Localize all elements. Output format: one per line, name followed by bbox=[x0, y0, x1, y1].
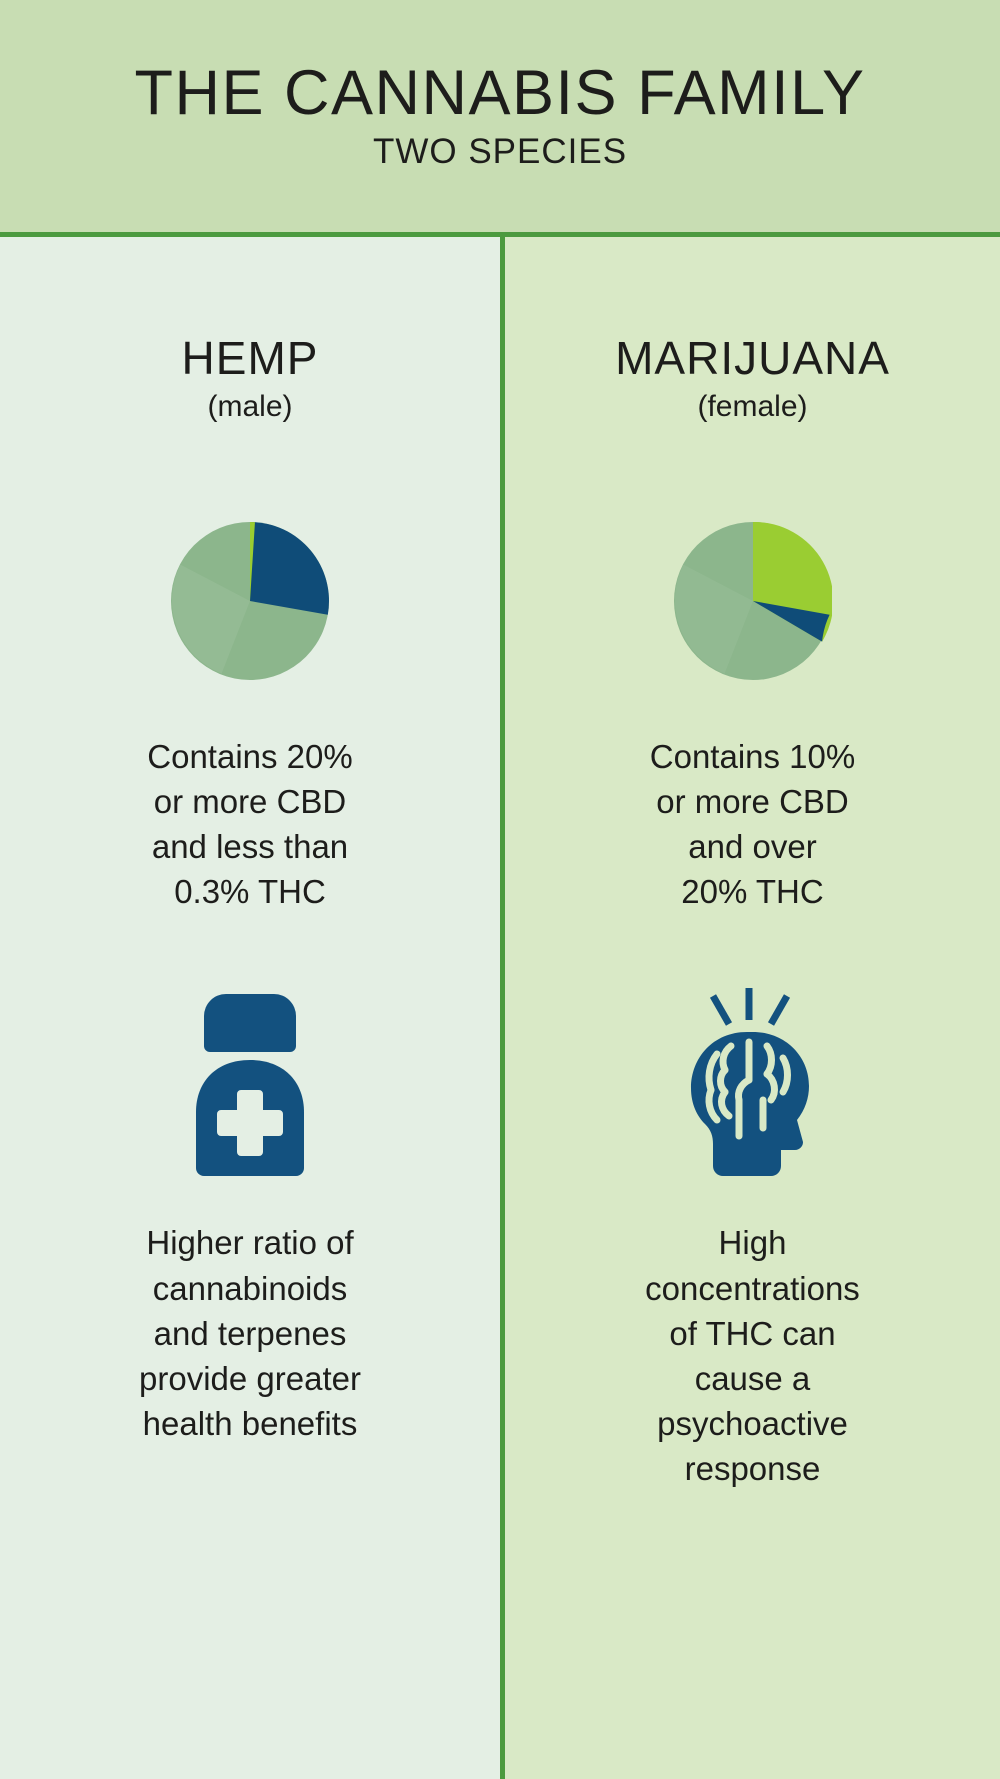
header-band: THE CANNABIS FAMILY TWO SPECIES bbox=[0, 0, 1000, 237]
stat-text-hemp: Contains 20% or more CBD and less than 0… bbox=[147, 734, 352, 915]
page-subtitle: TWO SPECIES bbox=[373, 132, 627, 172]
brain-head-icon bbox=[679, 976, 827, 1176]
column-subtitle-hemp: (male) bbox=[207, 390, 292, 424]
benefit-text-marijuana: High concentrations of THC can cause a p… bbox=[645, 1220, 860, 1491]
column-marijuana: MARIJUANA (female) Contains 10% or more … bbox=[500, 237, 1000, 1779]
pie-chart-hemp bbox=[171, 522, 329, 680]
pie-slice-thc-hemp bbox=[250, 522, 329, 615]
page-title: THE CANNABIS FAMILY bbox=[135, 60, 866, 126]
benefit-text-hemp: Higher ratio of cannabinoids and terpene… bbox=[139, 1220, 361, 1446]
column-title-marijuana: MARIJUANA bbox=[615, 333, 890, 384]
comparison-columns: HEMP (male) Contains 20% or more CBD and… bbox=[0, 237, 1000, 1779]
pie-chart-marijuana bbox=[674, 522, 832, 680]
column-hemp: HEMP (male) Contains 20% or more CBD and… bbox=[0, 237, 500, 1779]
column-subtitle-marijuana: (female) bbox=[697, 390, 807, 424]
stat-text-marijuana: Contains 10% or more CBD and over 20% TH… bbox=[650, 734, 855, 915]
cannabis-family-infographic: THE CANNABIS FAMILY TWO SPECIES HEMP (ma… bbox=[0, 0, 1000, 1779]
medicine-bottle-icon bbox=[196, 976, 304, 1176]
column-title-hemp: HEMP bbox=[182, 333, 319, 384]
